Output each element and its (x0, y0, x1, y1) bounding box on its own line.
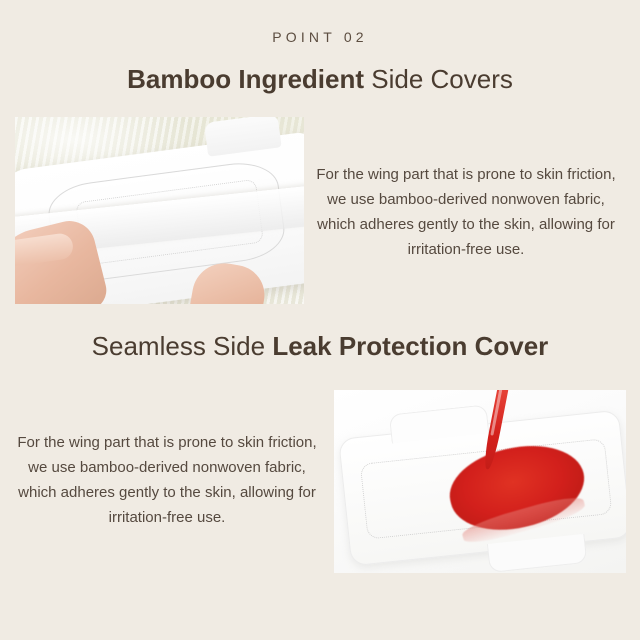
section-two-heading-light: Seamless Side (92, 331, 273, 361)
section-one-heading-light: Side Covers (364, 64, 513, 94)
section-two-body-text: For the wing part that is prone to skin … (14, 430, 320, 530)
section-one-image (15, 117, 304, 304)
section-one-heading: Bamboo Ingredient Side Covers (0, 64, 640, 94)
section-two-heading-strong: Leak Protection Cover (272, 331, 548, 361)
product-detail-page: POINT 02 Bamboo Ingredient Side Covers F… (0, 0, 640, 640)
section-one-heading-strong: Bamboo Ingredient (127, 64, 364, 94)
section-two-heading: Seamless Side Leak Protection Cover (0, 331, 640, 361)
point-label: POINT 02 (0, 29, 640, 45)
section-two-image (334, 390, 626, 573)
section-one-body-text: For the wing part that is prone to skin … (306, 162, 626, 262)
